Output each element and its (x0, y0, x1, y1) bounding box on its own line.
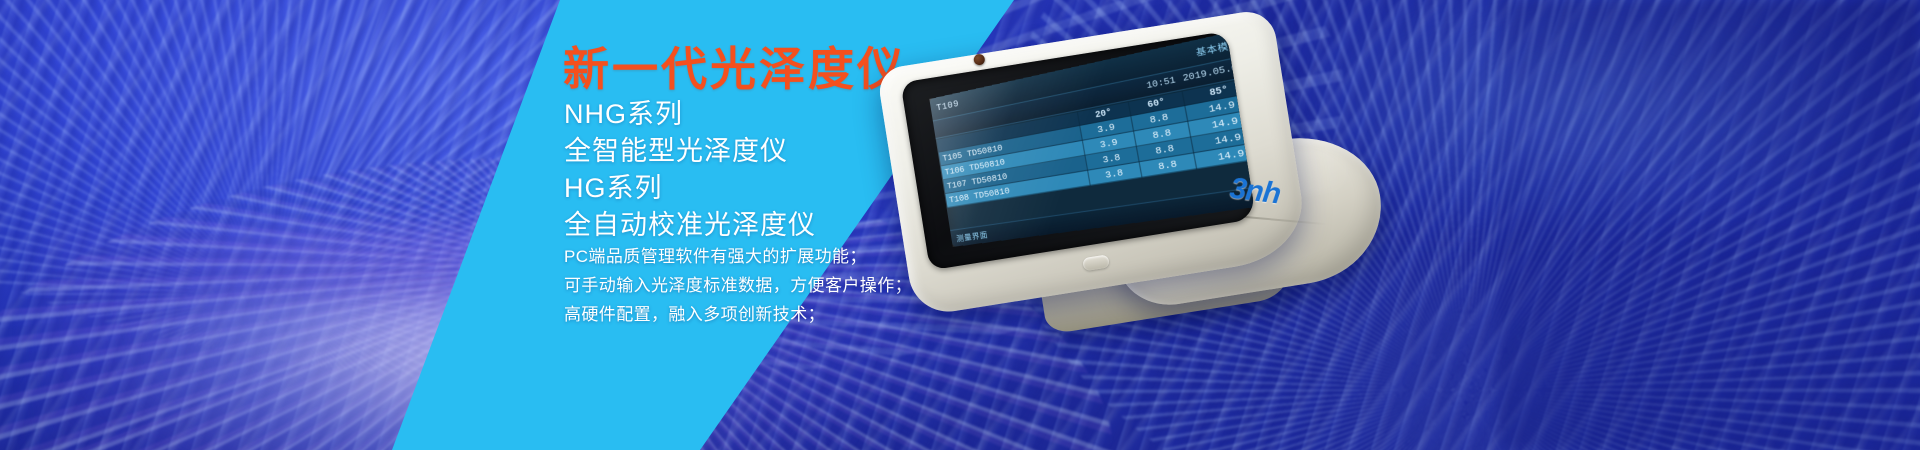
screen-time: 10:51 (1146, 76, 1177, 92)
banner-description-group: PC端品质管理软件有强大的扩展功能； 可手动输入光泽度标准数据，方便客户操作； … (564, 242, 912, 329)
description-line-3: 高硬件配置，融入多项创新技术； (564, 300, 912, 329)
subtitle-line-3: HG系列 (564, 170, 816, 207)
description-line-1: PC端品质管理软件有强大的扩展功能； (564, 242, 912, 271)
gloss-meter-device: T109 基本模式 10:51 2019.05.08 20° 60° (880, 16, 1360, 416)
brand-logo-3nh: 3nh (1228, 172, 1282, 212)
subtitle-line-2: 全智能型光泽度仪 (564, 133, 816, 170)
subtitle-line-4: 全自动校准光泽度仪 (564, 207, 816, 244)
subtitle-line-1: NHG系列 (564, 96, 816, 133)
screen-status-spacer (934, 129, 940, 130)
screen-sample-tag: T109 (930, 99, 960, 115)
description-line-2: 可手动输入光泽度标准数据，方便客户操作； (564, 271, 912, 300)
banner-subtitle-group: NHG系列 全智能型光泽度仪 HG系列 全自动校准光泽度仪 (564, 96, 816, 244)
promo-banner: 新一代光泽度仪 NHG系列 全智能型光泽度仪 HG系列 全自动校准光泽度仪 PC… (0, 0, 1920, 450)
screen-measure-button[interactable]: 测量界面 (951, 228, 989, 244)
device-body-group: T109 基本模式 10:51 2019.05.08 20° 60° (852, 0, 1389, 450)
